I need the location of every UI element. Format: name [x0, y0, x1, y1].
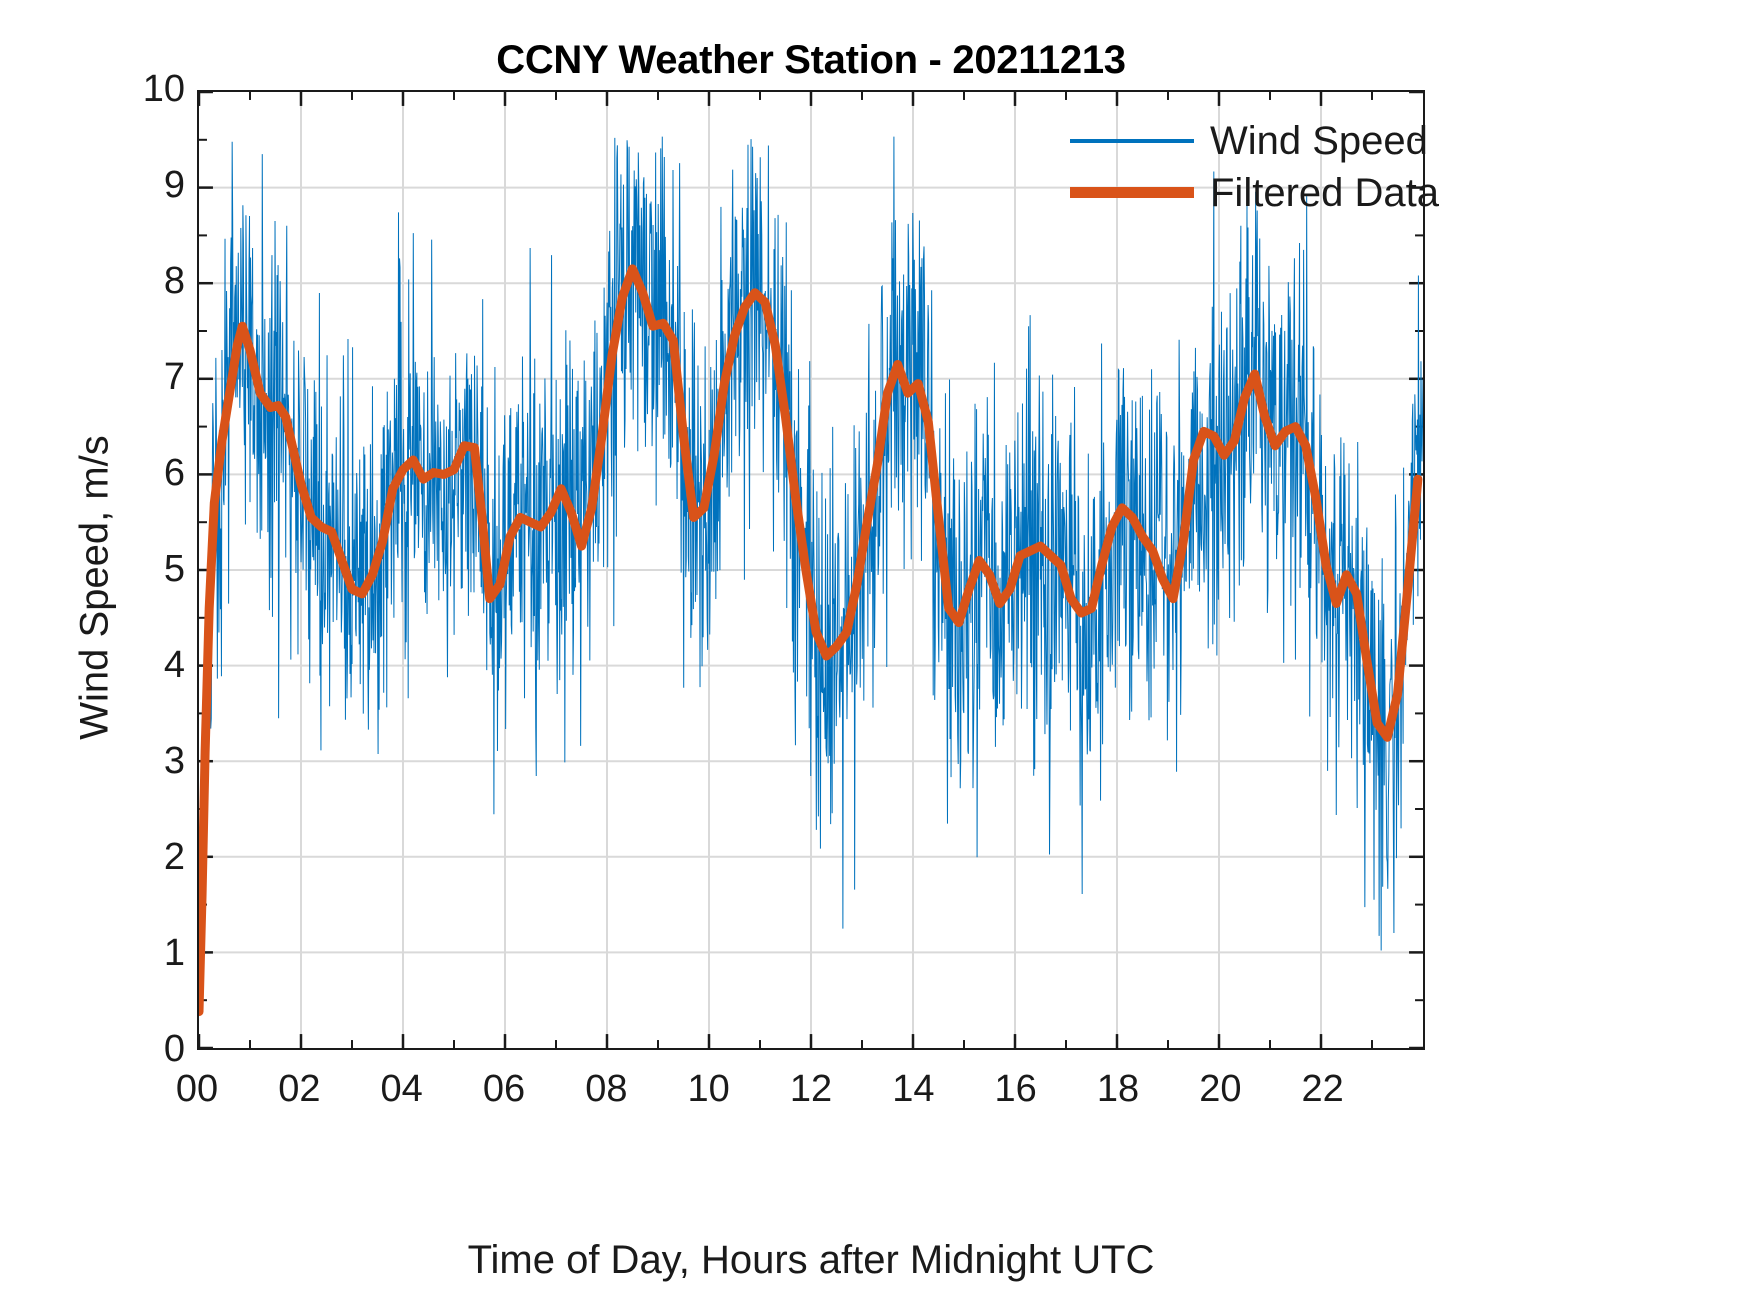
legend-swatch-wind-speed — [1070, 139, 1194, 143]
chart-legend: Wind Speed Filtered Data — [1070, 118, 1440, 218]
y-tick-label: 2 — [85, 838, 185, 876]
legend-label-filtered-data: Filtered Data — [1210, 170, 1439, 216]
y-tick-label: 9 — [85, 166, 185, 204]
figure-canvas: CCNY Weather Station - 20211213 Wind Spe… — [0, 0, 1750, 1313]
plot-svg — [199, 92, 1423, 1048]
y-tick-label: 10 — [85, 70, 185, 108]
y-tick-label: 5 — [85, 550, 185, 588]
x-tick-label: 22 — [1263, 1070, 1383, 1108]
x-axis-tick-labels: 000204060810121416182022 — [0, 1070, 1750, 1130]
y-tick-label: 0 — [85, 1030, 185, 1068]
y-tick-label: 1 — [85, 934, 185, 972]
y-tick-label: 7 — [85, 358, 185, 396]
y-tick-label: 6 — [85, 454, 185, 492]
legend-swatch-filtered-data — [1070, 187, 1194, 198]
legend-item-filtered-data: Filtered Data — [1070, 170, 1440, 216]
y-tick-label: 3 — [85, 742, 185, 780]
legend-item-wind-speed: Wind Speed — [1070, 118, 1440, 164]
plot-area — [197, 90, 1425, 1050]
chart-title: CCNY Weather Station - 20211213 — [197, 38, 1425, 83]
y-tick-label: 8 — [85, 262, 185, 300]
legend-label-wind-speed: Wind Speed — [1210, 118, 1428, 164]
x-axis-label: Time of Day, Hours after Midnight UTC — [197, 1238, 1425, 1283]
y-tick-label: 4 — [85, 646, 185, 684]
